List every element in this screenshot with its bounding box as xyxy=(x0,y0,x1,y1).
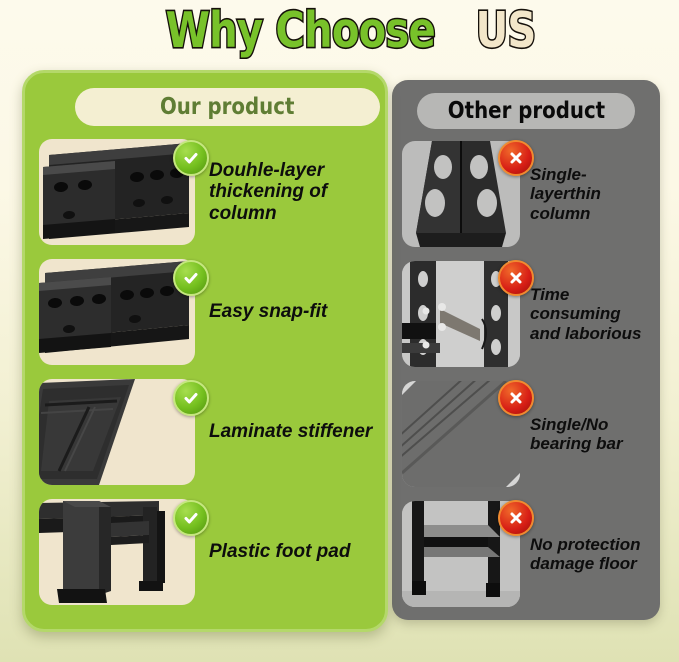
our-row-1: Douhle-layer thickening of column xyxy=(39,136,379,248)
page-title-secondary: US xyxy=(476,2,536,60)
laminate-stiffener-photo xyxy=(39,379,195,485)
check-icon xyxy=(173,500,209,536)
plastic-foot-pad-art xyxy=(39,499,195,605)
x-icon xyxy=(498,380,534,416)
check-icon xyxy=(173,380,209,416)
check-icon xyxy=(173,260,209,296)
snap-fit-beam-art xyxy=(39,259,195,365)
our-product-header-label: Our product xyxy=(160,88,294,126)
other-row-4: No protection damage floor xyxy=(402,498,652,610)
double-layer-column-art xyxy=(39,139,195,245)
snap-fit-beam-photo xyxy=(39,259,195,365)
other-row-2: Time consuming and laborious xyxy=(402,258,652,370)
other-product-header-label: Other product xyxy=(447,93,604,129)
page-title-primary: Why Choose xyxy=(166,2,435,60)
check-icon xyxy=(173,140,209,176)
our-row-4-caption: Plastic foot pad xyxy=(209,541,350,562)
our-row-2: Easy snap-fit xyxy=(39,256,379,368)
our-row-1-caption: Douhle-layer thickening of column xyxy=(209,160,379,224)
plastic-foot-pad-photo xyxy=(39,499,195,605)
our-row-3: Laminate stiffener xyxy=(39,376,379,488)
laminate-stiffener-art xyxy=(39,379,195,485)
our-product-panel: Our product Douhle- xyxy=(22,70,388,632)
double-layer-column-photo xyxy=(39,139,195,245)
other-row-4-caption: No protection damage floor xyxy=(530,535,652,573)
other-row-3: Single/No bearing bar xyxy=(402,378,652,490)
our-row-4: Plastic foot pad xyxy=(39,496,379,608)
our-row-2-caption: Easy snap-fit xyxy=(209,301,327,322)
our-row-3-caption: Laminate stiffener xyxy=(209,421,372,442)
x-icon xyxy=(498,140,534,176)
other-row-1-caption: Single-layerthin column xyxy=(530,165,652,222)
other-row-3-caption: Single/No bearing bar xyxy=(530,415,652,453)
other-product-header: Other product xyxy=(417,93,635,129)
x-icon xyxy=(498,260,534,296)
other-product-panel: Other product Single-layerthin column xyxy=(392,80,660,620)
our-product-header: Our product xyxy=(75,88,380,126)
x-icon xyxy=(498,500,534,536)
other-row-2-caption: Time consuming and laborious xyxy=(530,285,652,342)
page-title: Why Choose US xyxy=(0,2,679,62)
other-row-1: Single-layerthin column xyxy=(402,138,652,250)
